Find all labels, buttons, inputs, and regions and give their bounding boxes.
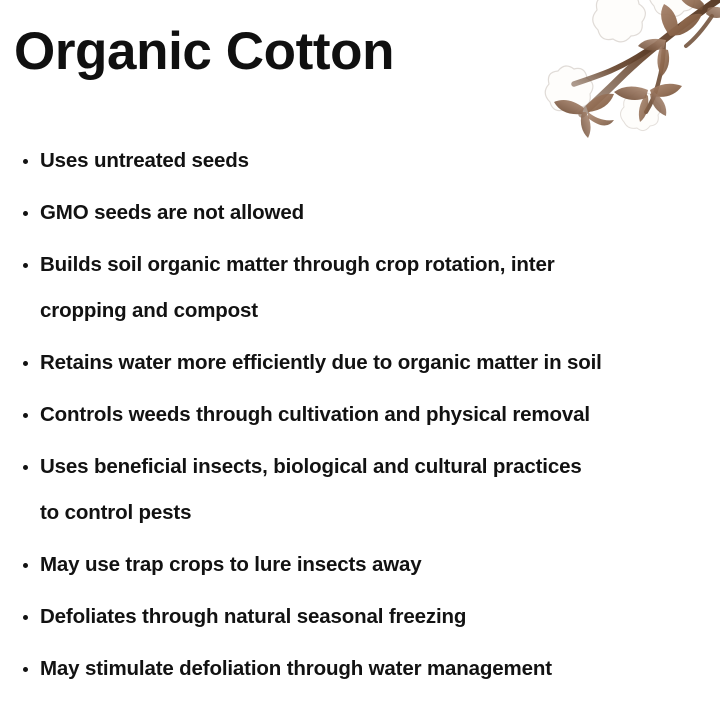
slide-canvas: Organic Cotton Uses untreated seeds GMO … bbox=[0, 0, 720, 720]
list-item: May use trap crops to lure insects away bbox=[20, 542, 720, 588]
cotton-boll-upper-right bbox=[649, 0, 697, 16]
feature-bullet-list: Uses untreated seeds GMO seeds are not a… bbox=[20, 138, 720, 698]
cotton-branch-illustration bbox=[536, 0, 720, 158]
list-item: May stimulate defoliation through water … bbox=[20, 646, 720, 692]
list-item: Builds soil organic matter through crop … bbox=[20, 242, 720, 334]
list-item: Uses untreated seeds bbox=[20, 138, 720, 184]
leaf-group bbox=[554, 0, 720, 138]
page-title: Organic Cotton bbox=[14, 22, 394, 82]
branch-stem-group bbox=[574, 0, 720, 114]
cotton-boll-bottom bbox=[621, 91, 661, 130]
cotton-boll-lower-left bbox=[545, 66, 593, 112]
cotton-boll-center bbox=[593, 0, 646, 42]
list-item: GMO seeds are not allowed bbox=[20, 190, 720, 236]
list-item: Controls weeds through cultivation and p… bbox=[20, 392, 720, 438]
cotton-boll-group bbox=[545, 0, 697, 131]
list-item: Uses beneficial insects, biological and … bbox=[20, 444, 720, 536]
list-item: Defoliates through natural seasonal free… bbox=[20, 594, 720, 640]
list-item: Retains water more efficiently due to or… bbox=[20, 340, 720, 386]
